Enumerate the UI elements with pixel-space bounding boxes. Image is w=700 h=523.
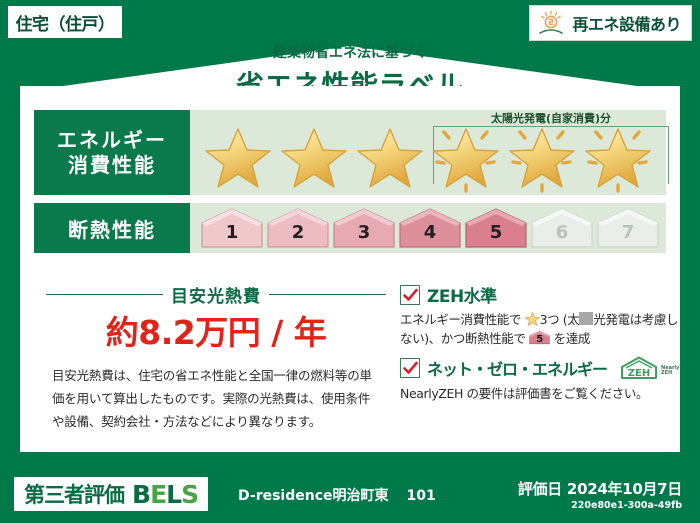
bels-certification-mark: 第三者評価 BELS bbox=[14, 477, 208, 511]
zeh-standard-title: ZEH水準 bbox=[427, 282, 497, 307]
star-5-solar bbox=[504, 118, 580, 188]
grade-number: 4 bbox=[398, 207, 462, 249]
solar-sun-icon bbox=[536, 10, 566, 36]
zeh-standard-description: エネルギー消費性能で 3つ (太光発電は考慮しない)、かつ断熱性能で 5 を達成 bbox=[400, 310, 690, 349]
insulation-grade-4: 4 bbox=[398, 207, 462, 249]
net-zero-energy-title: ネット・ゼロ・エネルギー bbox=[427, 356, 607, 380]
content-panel: エネルギー 消費性能 太陽光発電(自家消費)分 bbox=[20, 86, 680, 452]
zeh-desc-part4: を達成 bbox=[550, 331, 590, 346]
grade-number: 5 bbox=[464, 207, 528, 249]
energy-label-line1: エネルギー bbox=[57, 128, 167, 153]
net-zero-energy-item: ネット・ゼロ・エネルギー ZEH Nearly ZEH NearlyZEH bbox=[400, 355, 690, 403]
renewable-equipment-badge: 再エネ設備あり bbox=[529, 5, 692, 41]
zeh-house-logo: ZEH Nearly ZEH bbox=[614, 355, 679, 381]
cost-heading-text: 目安光熱費 bbox=[171, 282, 261, 307]
estimated-cost-heading: 目安光熱費 bbox=[46, 282, 386, 307]
energy-performance-row: エネルギー 消費性能 太陽光発電(自家消費)分 bbox=[34, 110, 666, 195]
zeh-criteria-block: ZEH水準 エネルギー消費性能で 3つ (太光発電は考慮しない)、かつ断熱性能で… bbox=[400, 282, 690, 409]
bels-letter-l: L bbox=[166, 480, 181, 509]
zeh-desc-part2: 3つ (太 bbox=[540, 312, 580, 327]
divider-right bbox=[269, 294, 386, 296]
zeh-desc-part1: エネルギー消費性能で bbox=[400, 312, 525, 327]
record-id: 220e80e1-300a-49fb bbox=[518, 500, 682, 511]
divider-left bbox=[46, 294, 163, 296]
insulation-grade-7: 7 bbox=[596, 207, 660, 249]
grade-number: 6 bbox=[530, 207, 594, 249]
estimated-cost-value: 約8.2万円 / 年 bbox=[46, 306, 386, 354]
bels-letter-s: S bbox=[181, 480, 198, 509]
third-party-eval-label: 第三者評価 bbox=[24, 479, 124, 509]
insulation-row-label: 断熱性能 bbox=[34, 203, 190, 253]
building-name: D-residence明治町東 bbox=[238, 485, 389, 505]
svg-text:ZEH: ZEH bbox=[628, 368, 650, 379]
zeh-standard-item: ZEH水準 エネルギー消費性能で 3つ (太光発電は考慮しない)、かつ断熱性能で… bbox=[400, 282, 690, 349]
grade-number: 1 bbox=[200, 207, 264, 249]
zeh-nearly-text: Nearly ZEH bbox=[661, 366, 679, 381]
check-icon bbox=[400, 285, 420, 305]
inline-grade-badge: 5 bbox=[529, 330, 550, 345]
zeh-standard-header: ZEH水準 bbox=[400, 282, 690, 307]
grade-number: 7 bbox=[596, 207, 660, 249]
bels-letter-e: E bbox=[150, 480, 166, 509]
star-6-solar bbox=[580, 118, 656, 188]
star-3 bbox=[352, 118, 428, 188]
grade-number: 3 bbox=[332, 207, 396, 249]
insulation-grade-2: 2 bbox=[266, 207, 330, 249]
renewable-badge-label: 再エネ設備あり bbox=[572, 11, 681, 35]
insulation-grade-6: 6 bbox=[530, 207, 594, 249]
zeh-nearly-line2: ZEH bbox=[661, 370, 672, 376]
title-subtitle: 建築物省エネ法に基づく bbox=[0, 42, 700, 62]
insulation-grade-3: 3 bbox=[332, 207, 396, 249]
bels-wordmark: BELS bbox=[132, 480, 198, 509]
insulation-grade-1: 1 bbox=[200, 207, 264, 249]
check-icon bbox=[400, 358, 420, 378]
building-identification: D-residence明治町東 101 bbox=[238, 485, 436, 505]
inline-grade-number: 5 bbox=[529, 330, 550, 345]
bels-letter-b: B bbox=[132, 480, 150, 509]
star-1 bbox=[200, 118, 276, 188]
redacted-block-icon bbox=[579, 312, 593, 325]
grade-number: 2 bbox=[266, 207, 330, 249]
net-zero-energy-header: ネット・ゼロ・エネルギー ZEH Nearly ZEH bbox=[400, 355, 690, 381]
star-icon bbox=[525, 312, 540, 327]
cost-note-text: 目安光熱費は、住宅の省エネ性能と全国一律の燃料等の単価を用いて算出したものです。… bbox=[52, 364, 382, 433]
insulation-grade-5: 5 bbox=[464, 207, 528, 249]
evaluation-date: 評価日 2024年10月7日 bbox=[518, 478, 682, 499]
room-number: 101 bbox=[407, 488, 436, 504]
bels-energy-label: 住宅（住戸） 再エネ設備あり 建築物省エネ法に基づく 省エネ性能ラベル bbox=[0, 0, 700, 523]
insulation-grade-scale: 1 2 3 4 5 bbox=[190, 203, 666, 253]
net-zero-energy-description: NearlyZEH の要件は評価書をご覧ください。 bbox=[400, 384, 690, 403]
energy-label-line2: 消費性能 bbox=[68, 153, 156, 178]
evaluation-meta: 評価日 2024年10月7日 220e80e1-300a-49fb bbox=[518, 478, 682, 511]
energy-row-label: エネルギー 消費性能 bbox=[34, 110, 190, 195]
star-4-solar bbox=[428, 118, 504, 188]
insulation-performance-row: 断熱性能 1 2 3 4 bbox=[34, 203, 666, 253]
star-2 bbox=[276, 118, 352, 188]
house-type-tag: 住宅（住戸） bbox=[6, 4, 124, 40]
energy-star-rating: 太陽光発電(自家消費)分 bbox=[190, 110, 666, 195]
